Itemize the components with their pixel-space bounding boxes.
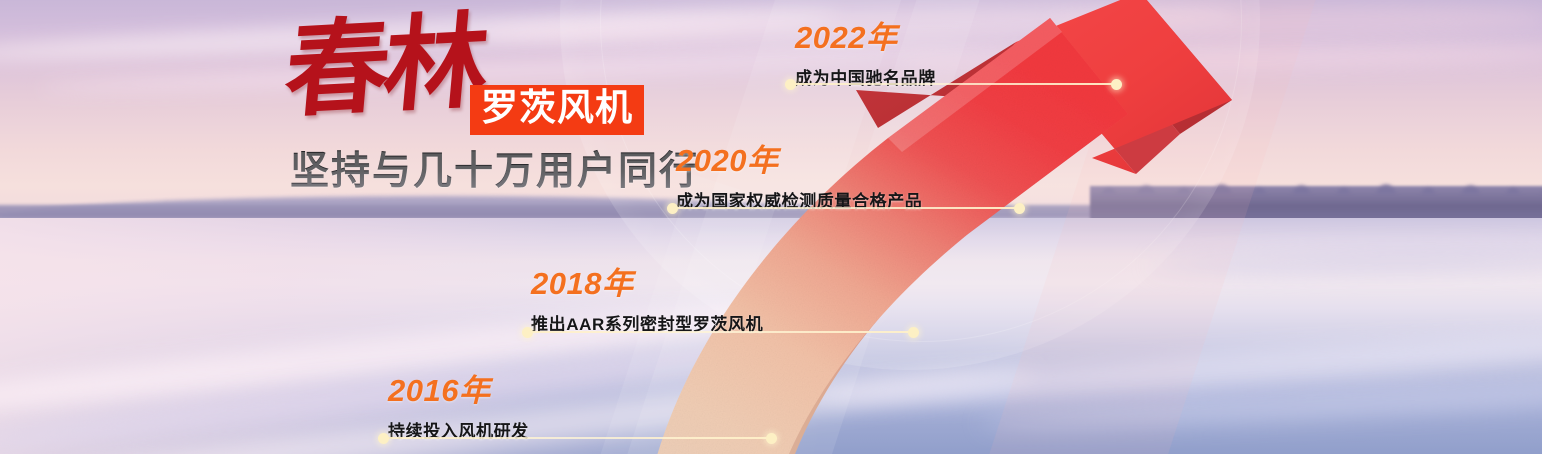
milestone-connector-line (527, 331, 913, 333)
upward-growth-arrow (620, 0, 1320, 454)
milestone-connector-dot (766, 433, 777, 444)
milestone-connector-dot (785, 79, 796, 90)
milestone-year: 2016年 (388, 375, 529, 406)
promo-banner: 春林 罗茨风机 坚持与几十万用户同行 2022年 成为中国驰名品牌 2020年 … (0, 0, 1542, 454)
milestone-connector-dot (1111, 79, 1122, 90)
milestone-connector-dot (378, 433, 389, 444)
milestone-connector-line (383, 437, 771, 439)
milestone-2016: 2016年 持续投入风机研发 (388, 375, 529, 442)
milestone-2018: 2018年 推出AAR系列密封型罗茨风机 (531, 268, 763, 335)
brand-logo: 春林 罗茨风机 坚持与几十万用户同行 (286, 14, 656, 194)
milestone-connector-dot (667, 203, 678, 214)
brand-script-name: 春林 (281, 9, 487, 123)
milestone-year: 2022年 (795, 22, 936, 53)
milestone-connector-line (672, 207, 1019, 209)
milestone-connector-dot (522, 327, 533, 338)
milestone-description: 成为中国驰名品牌 (795, 64, 936, 89)
milestone-connector-dot (908, 327, 919, 338)
milestone-2020: 2020年 成为国家权威检测质量合格产品 (676, 145, 922, 212)
milestone-year: 2020年 (676, 145, 922, 176)
milestone-2022: 2022年 成为中国驰名品牌 (795, 22, 936, 89)
milestone-connector-dot (1014, 203, 1025, 214)
product-name-badge: 罗茨风机 (470, 85, 644, 135)
milestone-connector-line (790, 83, 1116, 85)
brand-tagline: 坚持与几十万用户同行 (290, 140, 700, 196)
milestone-year: 2018年 (531, 268, 763, 299)
